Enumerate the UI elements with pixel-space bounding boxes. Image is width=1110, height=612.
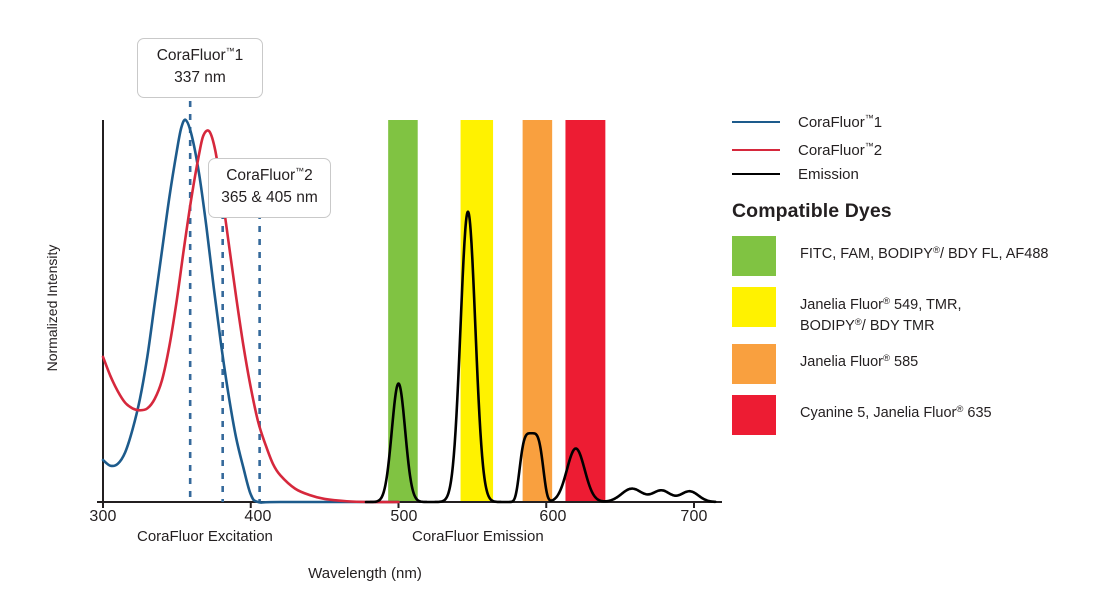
dye-swatch-red: [732, 395, 776, 435]
callout-corafluor1-line1: CoraFluor™1: [148, 45, 252, 67]
callout-corafluor2-line1: CoraFluor™2: [219, 165, 320, 187]
yellow-band: [461, 120, 494, 502]
dye-label-green-line1: FITC, FAM, BODIPY®/ BDY FL, AF488: [800, 244, 1048, 265]
x-axis-title: Wavelength (nm): [0, 565, 730, 582]
dye-row-red: Cyanine 5, Janelia Fluor® 635: [732, 395, 992, 435]
x-tick-700: 700: [664, 508, 724, 526]
dye-swatch-orange: [732, 344, 776, 384]
legend-series-emission: Emission: [732, 165, 859, 183]
dye-row-orange: Janelia Fluor® 585: [732, 344, 918, 384]
legend-series-label-corafluor1: CoraFluor™1: [798, 113, 882, 131]
legend-line-swatch-corafluor1: [732, 121, 780, 123]
legend-line-swatch-corafluor2: [732, 149, 780, 151]
green-band: [388, 120, 418, 502]
legend-line-swatch-emission: [732, 173, 780, 175]
dye-row-green: FITC, FAM, BODIPY®/ BDY FL, AF488: [732, 236, 1048, 276]
legend-panel: CoraFluor™1 CoraFluor™2 Emission Compati…: [730, 0, 1110, 612]
dye-label-yellow-line1: Janelia Fluor® 549, TMR,: [800, 295, 961, 316]
x-tick-300: 300: [73, 508, 133, 526]
wavelength-bands: [388, 120, 605, 502]
dye-label-yellow-line2: BODIPY®/ BDY TMR: [800, 316, 961, 337]
dye-swatch-yellow: [732, 287, 776, 327]
y-axis-title: Normalized Intensity: [44, 228, 60, 388]
legend-series-label-emission: Emission: [798, 166, 859, 183]
dye-label-orange: Janelia Fluor® 585: [800, 344, 918, 373]
legend-series-corafluor1: CoraFluor™1: [732, 113, 882, 131]
orange-band: [523, 120, 553, 502]
region-label-excitation: CoraFluor Excitation: [137, 528, 273, 545]
dye-label-yellow: Janelia Fluor® 549, TMR, BODIPY®/ BDY TM…: [800, 287, 961, 337]
legend-series-label-corafluor2: CoraFluor™2: [798, 141, 882, 159]
legend-series-corafluor2: CoraFluor™2: [732, 141, 882, 159]
dye-label-orange-line1: Janelia Fluor® 585: [800, 352, 918, 373]
compatible-dyes-heading: Compatible Dyes: [732, 200, 892, 223]
callout-corafluor2-line2: 365 & 405 nm: [219, 187, 320, 209]
dye-row-yellow: Janelia Fluor® 549, TMR, BODIPY®/ BDY TM…: [732, 287, 961, 337]
red-band: [565, 120, 605, 502]
dye-label-red: Cyanine 5, Janelia Fluor® 635: [800, 395, 992, 424]
dye-label-green: FITC, FAM, BODIPY®/ BDY FL, AF488: [800, 236, 1048, 265]
spectra-figure: 300 400 500 600 700 CoraFluor Excitation…: [0, 0, 1110, 612]
x-tick-500: 500: [374, 508, 434, 526]
callout-corafluor1: CoraFluor™1 337 nm: [137, 38, 263, 98]
callout-corafluor2: CoraFluor™2 365 & 405 nm: [208, 158, 331, 218]
chart-area: 300 400 500 600 700 CoraFluor Excitation…: [0, 0, 730, 612]
dye-label-red-line1: Cyanine 5, Janelia Fluor® 635: [800, 403, 992, 424]
callout-corafluor1-line2: 337 nm: [148, 67, 252, 89]
x-tick-400: 400: [228, 508, 288, 526]
dye-swatch-green: [732, 236, 776, 276]
region-label-emission: CoraFluor Emission: [412, 528, 544, 545]
x-tick-600: 600: [523, 508, 583, 526]
